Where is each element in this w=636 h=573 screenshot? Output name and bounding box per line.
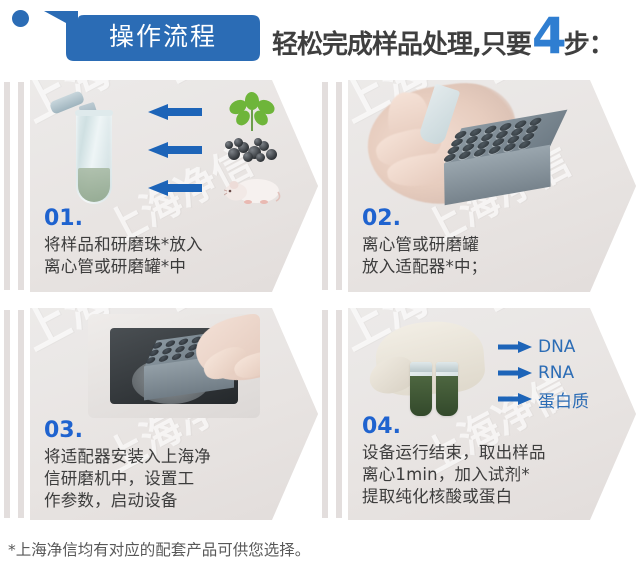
step-cell-02: 上海净信 上海净信 上海净信 [318,78,636,294]
step-panel-03: 上海净信 上海净信 上海净信 [30,308,318,520]
headline-prefix: 轻松完成样品处理,只要 [272,24,531,61]
step-cell-04: 上海净信 上海净信 上海净信 [318,306,636,522]
vial-cap [410,362,432,372]
grinder-machine-image [88,314,260,418]
step-number: 04. [362,416,401,438]
arrow-right-icon [498,341,532,353]
output-label: DNA [538,337,575,357]
decor-stripe [322,82,328,290]
arrow-right-icon [498,393,532,405]
step-description: 将适配器安装入上海净 信研磨机中，设置工 作参数，启动设备 [44,446,211,512]
infographic-page: 操作流程 轻松完成样品处理,只要 4 步： 上海净信 上海净信 上海净信 [0,0,636,573]
section-badge-label: 操作流程 [44,9,260,61]
centrifuge-tube-image [64,94,126,206]
sample-vial [436,362,458,416]
decor-stripe [336,82,342,290]
step-description: 将样品和研磨珠*放入 离心管或研磨罐*中 [44,234,203,278]
decor-stripe [322,310,328,518]
leaf-sample-icon [226,92,278,132]
intake-arrows [148,98,210,204]
decor-stripe [18,82,24,290]
output-label: 蛋白质 [538,387,589,412]
output-row: 蛋白质 [498,388,589,410]
step-number: 01. [44,208,83,230]
step-cell-03: 上海净信 上海净信 上海净信 [0,306,318,522]
sample-vial [410,362,432,416]
sample-types [220,90,294,210]
step-panel-02: 上海净信 上海净信 上海净信 [348,80,636,292]
vial-cap [436,362,458,372]
step-line: 离心1min，加入试剂* [362,464,546,486]
step-line: 设备运行结束，取出样品 [362,442,546,464]
footer-note: *上海净信均有对应的配套产品可供您选择。 [8,538,310,560]
step-number: 03. [44,420,83,442]
header-dot-icon [12,10,29,27]
output-row: DNA [498,336,575,358]
page-header: 操作流程 轻松完成样品处理,只要 4 步： [0,0,636,72]
step-line: 信研磨机中，设置工 [44,468,211,490]
tube-rim [75,110,113,116]
output-label: RNA [538,363,574,383]
page-headline: 轻松完成样品处理,只要 4 步： [272,14,614,61]
tube-liquid [78,168,110,202]
step-line: 作参数，启动设备 [44,490,211,512]
step-line: 将样品和研磨珠*放入 [44,234,203,256]
step-line: 离心管或研磨罐*中 [44,256,203,278]
arrow-left-icon [148,104,202,120]
step-line: 放入适配器*中； [362,256,487,278]
vial-contents [436,376,458,416]
vial-contents [410,376,432,416]
decor-stripe [336,310,342,518]
decor-stripe [4,82,10,290]
output-row: RNA [498,362,574,384]
step-number: 02. [362,208,401,230]
step-line: 离心管或研磨罐 [362,234,487,256]
step-line: 将适配器安装入上海净 [44,446,211,468]
step-description: 设备运行结束，取出样品 离心1min，加入试剂* 提取纯化核酸或蛋白 [362,442,546,508]
steps-grid: 上海净信 上海净信 上海净信 [0,78,636,530]
arrow-right-icon [498,367,532,379]
headline-step-count: 4 [532,14,565,59]
grinding-beads-icon [224,136,280,164]
step-description: 离心管或研磨罐 放入适配器*中； [362,234,487,278]
step-panel-04: 上海净信 上海净信 上海净信 [348,308,636,520]
headline-suffix: 步： [564,24,614,61]
output-list: DNA RNA 蛋白质 [498,336,630,408]
decor-stripe [18,310,24,518]
step-panel-01: 上海净信 上海净信 上海净信 [30,80,318,292]
decor-stripe [4,310,10,518]
step-cell-01: 上海净信 上海净信 上海净信 [0,78,318,294]
arrow-left-icon [148,180,202,196]
step-line: 提取纯化核酸或蛋白 [362,486,546,508]
arrow-left-icon [148,142,202,158]
mouse-sample-icon [224,174,282,204]
